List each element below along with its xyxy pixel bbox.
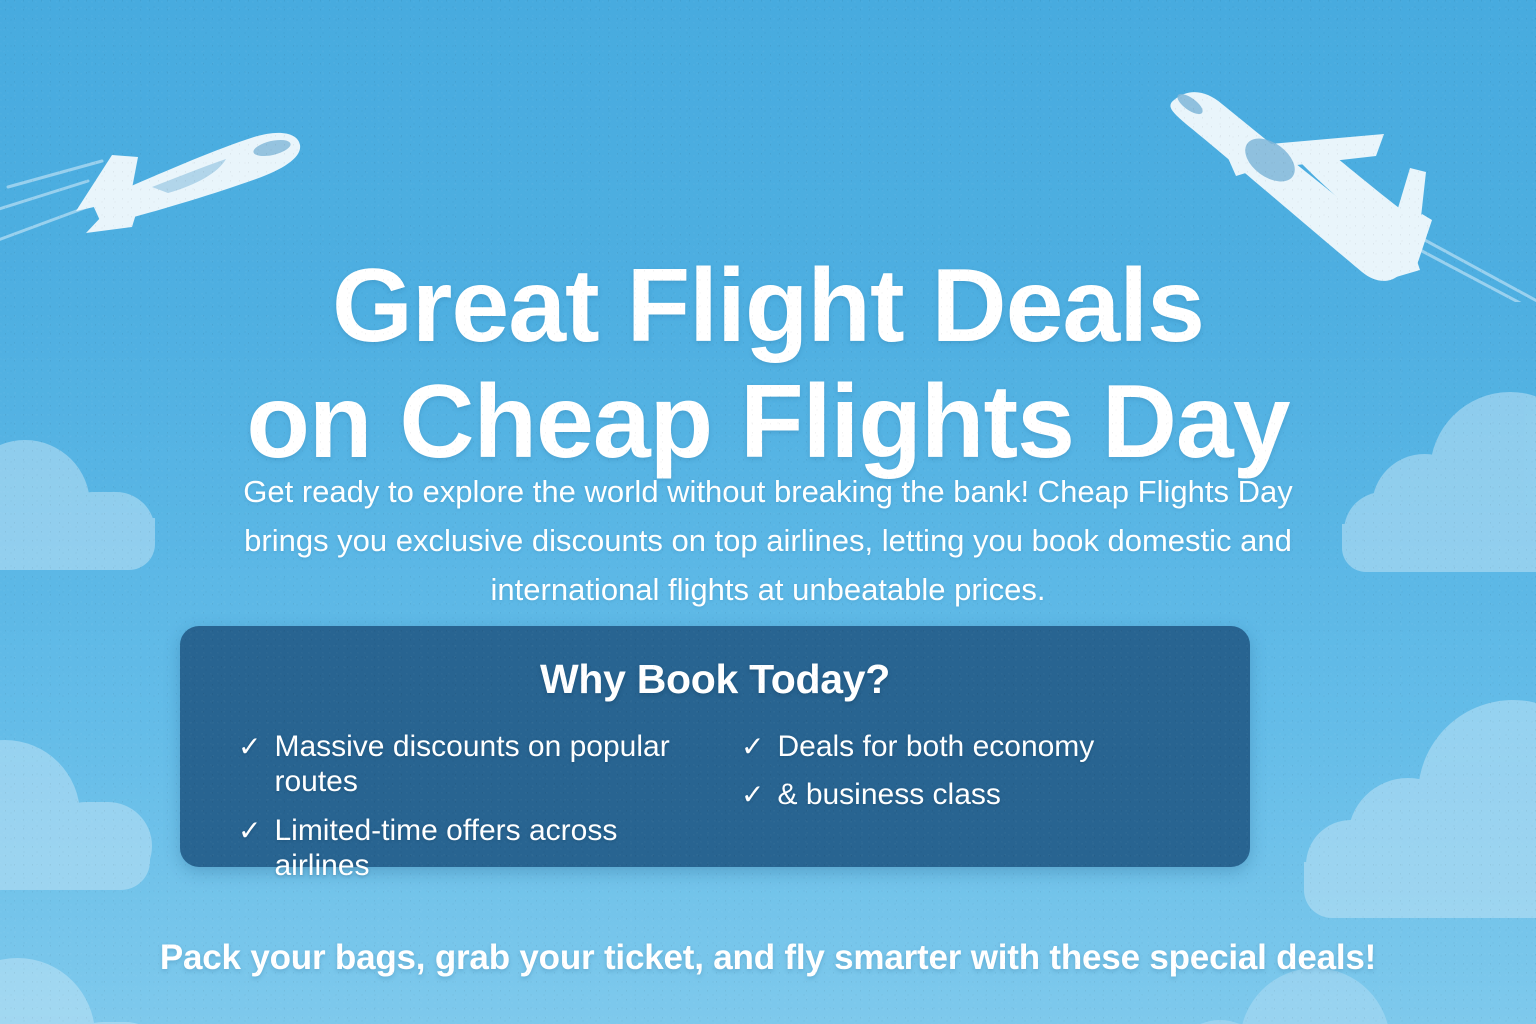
check-icon: ✓ [741, 733, 764, 761]
headline-line-2: on Cheap Flights Day [0, 364, 1536, 480]
benefit-label: & business class [777, 777, 1000, 812]
benefit-item: ✓ Massive discounts on popular routes [238, 729, 689, 800]
page-title: Great Flight Deals on Cheap Flights Day [0, 248, 1536, 481]
check-icon: ✓ [238, 817, 261, 845]
benefit-column-left: ✓ Massive discounts on popular routes ✓ … [238, 729, 689, 884]
benefit-label: Limited-time offers across airlines [274, 813, 689, 884]
intro-paragraph: Get ready to explore the world without b… [223, 468, 1313, 615]
check-icon: ✓ [741, 781, 764, 809]
benefit-list: ✓ Massive discounts on popular routes ✓ … [180, 729, 1250, 884]
benefit-item: ✓ & business class [741, 777, 1192, 812]
closing-tagline: Pack your bags, grab your ticket, and fl… [0, 938, 1536, 978]
panel-title: Why Book Today? [180, 656, 1250, 703]
benefit-item: ✓ Deals for both economy [741, 729, 1192, 764]
promo-banner: Great Flight Deals on Cheap Flights Day … [0, 0, 1536, 1024]
check-icon: ✓ [238, 733, 261, 761]
benefit-item: ✓ Limited-time offers across airlines [238, 813, 689, 884]
why-book-today-panel: Why Book Today? ✓ Massive discounts on p… [180, 626, 1250, 867]
benefit-column-right: ✓ Deals for both economy ✓ & business cl… [689, 729, 1192, 884]
benefit-label: Massive discounts on popular routes [274, 729, 689, 800]
headline-line-1: Great Flight Deals [0, 248, 1536, 364]
benefit-label: Deals for both economy [777, 729, 1094, 764]
